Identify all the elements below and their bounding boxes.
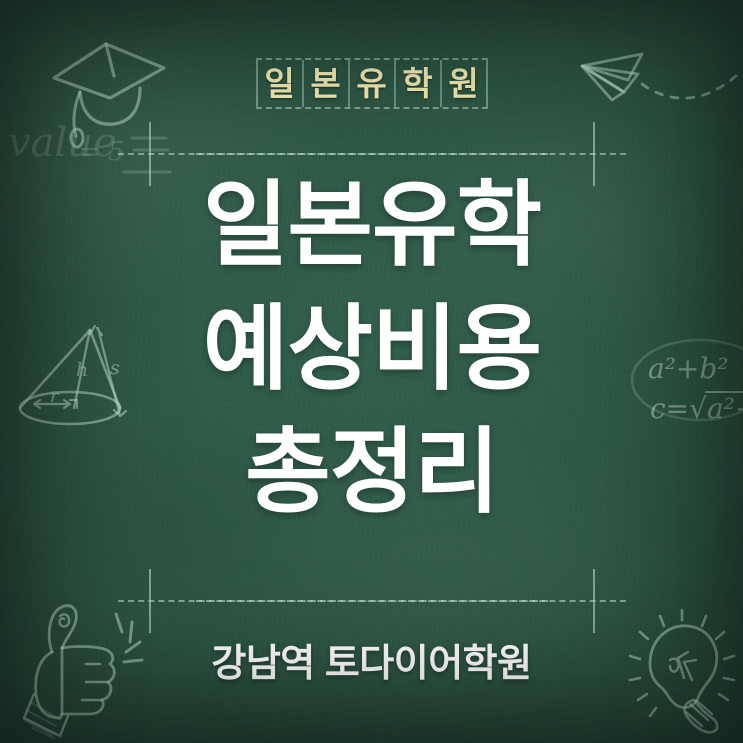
title-frame: 일본유학 예상비용 총정리 <box>148 150 596 605</box>
headline-line-3: 총정리 <box>148 411 596 535</box>
badge-cell-1: 일 <box>258 60 304 107</box>
pythagorean-formula-doodle: a²+b² c=√a²+ <box>630 330 743 445</box>
formula-line-1: a²+b² <box>648 352 729 385</box>
chalkboard-poster: value = 5 <box>0 0 743 743</box>
cone-label-s: s <box>110 357 120 379</box>
formula-line-2: c=√a²+ <box>650 392 743 425</box>
badge-cell-5: 원 <box>442 60 486 107</box>
badge-grid: 일 본 유 학 원 <box>256 58 488 109</box>
cone-label-r: r <box>50 386 60 407</box>
page-title: 일본유학 예상비용 총정리 <box>148 164 596 535</box>
badge-cell-2: 본 <box>304 60 350 107</box>
handwriting-value-text: value <box>8 120 117 166</box>
crosshair-bottom-right <box>562 569 626 633</box>
cone-geometry-doodle: h s r <box>12 312 152 440</box>
badge-cell-4: 학 <box>396 60 442 107</box>
badge-cell-3: 유 <box>350 60 396 107</box>
crosshair-bottom-left <box>118 569 182 633</box>
cone-label-h: h <box>76 359 88 381</box>
footer-brand: 강남역 토다이어학원 <box>0 632 743 687</box>
headline-line-2: 예상비용 <box>148 288 596 412</box>
headline-line-1: 일본유학 <box>148 164 596 288</box>
badge-manuscript-grid: 일 본 유 학 원 <box>0 58 743 109</box>
